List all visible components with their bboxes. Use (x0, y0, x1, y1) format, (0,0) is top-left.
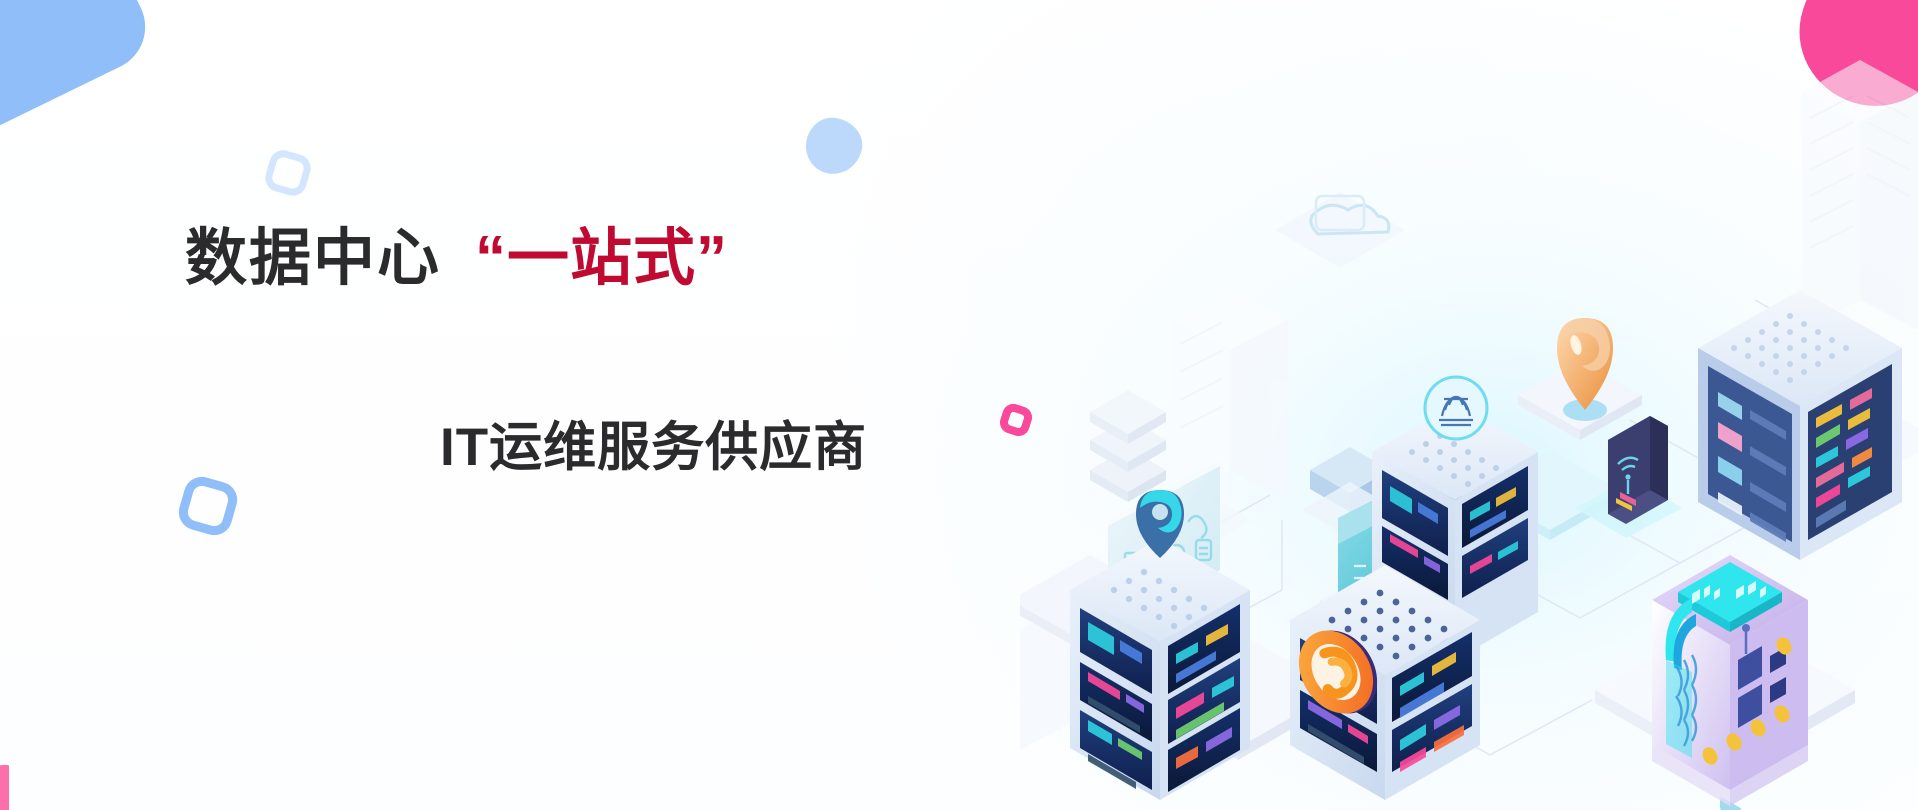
ghost-building-right (1802, 60, 1918, 330)
headline-line-2: IT运维服务供应商 (440, 405, 1085, 481)
headline-line-1: 数据中心“一站式” (185, 225, 1085, 293)
ghost-building-mid (1172, 290, 1288, 500)
quote-close: ” (696, 224, 728, 293)
headline-accent-text: 一站式 (507, 224, 696, 293)
cooling-vent (1666, 598, 1696, 758)
headline-dark-text: 数据中心 (185, 224, 441, 293)
blob-top-left-decoration (0, 0, 160, 149)
stacked-disk-node (1090, 390, 1166, 502)
headline-accent-group: “一站式” (475, 224, 728, 293)
cooling-unit (1652, 555, 1808, 806)
blob-blue-solid-decoration (802, 114, 867, 179)
ring-blue-lower-decoration (175, 473, 242, 540)
hero-banner: 数据中心“一站式” IT运维服务供应商 (0, 0, 1918, 810)
location-pin (1557, 318, 1613, 421)
bar-bottom-left-decoration (0, 765, 9, 810)
quote-open: “ (475, 224, 507, 293)
hero-headline: 数据中心“一站式” IT运维服务供应商 (185, 225, 1085, 481)
ring-blue-upper-decoration (262, 147, 314, 199)
fingerprint-node (1425, 377, 1487, 439)
isometric-data-center-illustration (1020, 0, 1918, 810)
